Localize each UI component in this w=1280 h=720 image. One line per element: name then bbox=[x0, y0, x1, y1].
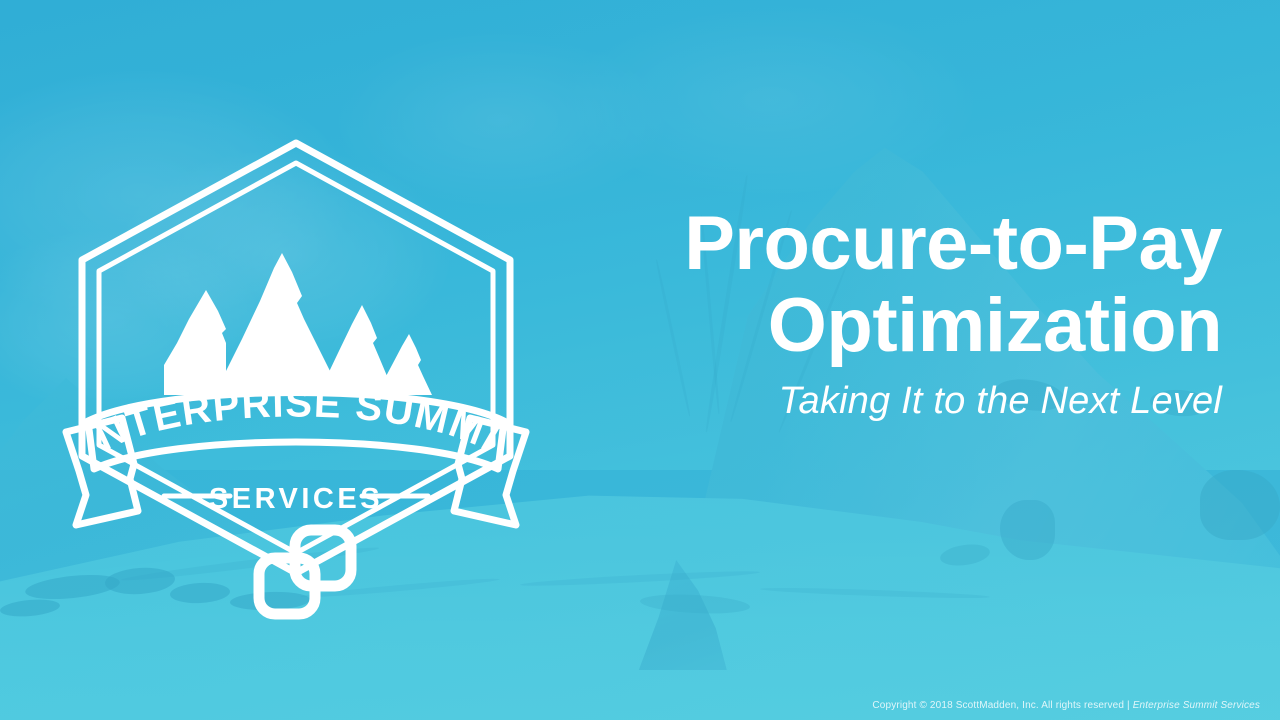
slide-title-line-1: Procure-to-Pay bbox=[522, 203, 1222, 285]
enterprise-summit-logo: Enterprise Summit Services badge logo bbox=[46, 133, 546, 583]
badge-services-row: SERVICES bbox=[164, 483, 428, 515]
copyright-footer: Copyright © 2018 ScottMadden, Inc. All r… bbox=[872, 700, 1260, 711]
slide-title-line-2: Optimization bbox=[522, 285, 1222, 367]
badge-services-text: SERVICES bbox=[209, 483, 383, 515]
slide-subtitle: Taking It to the Next Level bbox=[522, 373, 1222, 430]
title-block: Procure-to-Pay Optimization Taking It to… bbox=[522, 203, 1222, 430]
publication-name: Enterprise Summit Services bbox=[1133, 700, 1260, 711]
title-slide: Enterprise Summit Services badge logo bbox=[0, 0, 1280, 720]
badge-icon: Enterprise Summit Services badge logo bbox=[46, 133, 546, 583]
copyright-text: Copyright © 2018 ScottMadden, Inc. All r… bbox=[872, 700, 1132, 711]
